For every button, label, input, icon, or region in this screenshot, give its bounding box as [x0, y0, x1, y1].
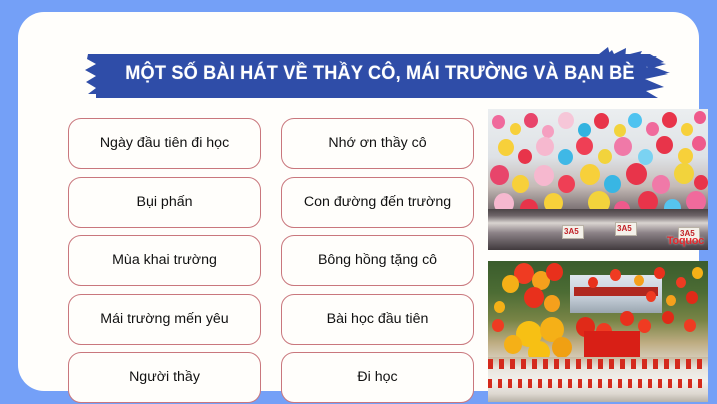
song-box[interactable]: Mái trường mến yêu: [68, 294, 261, 345]
song-box[interactable]: Bụi phấn: [68, 177, 261, 228]
song-box[interactable]: Ngày đầu tiên đi học: [68, 118, 261, 169]
photo-students-with-colorful-balloons: 3A5 3A5 3A5 Toquoc: [488, 109, 708, 250]
song-box[interactable]: Đi học: [281, 352, 474, 403]
song-box[interactable]: Người thầy: [68, 352, 261, 403]
photo-watermark: Toquoc: [667, 235, 704, 247]
red-hats-row: [488, 359, 708, 369]
song-box[interactable]: Bông hồng tặng cô: [281, 235, 474, 286]
photo-school-opening-ceremony-red-yellow-balloons: [488, 261, 708, 402]
song-box[interactable]: Bài học đầu tiên: [281, 294, 474, 345]
banner-title-text: MỘT SỐ BÀI HÁT VỀ THẦY CÔ, MÁI TRƯỜNG VÀ…: [95, 46, 664, 100]
red-hats-row: [488, 379, 708, 388]
class-placard-text: 3A5: [564, 228, 579, 236]
song-box[interactable]: Con đường đến trường: [281, 177, 474, 228]
content-panel: MỘT SỐ BÀI HÁT VỀ THẦY CÔ, MÁI TRƯỜNG VÀ…: [18, 12, 699, 391]
class-placard-text: 3A5: [617, 225, 632, 233]
red-flags: [584, 331, 640, 359]
song-list-grid: Ngày đầu tiên đi học Nhớ ơn thầy cô Bụi …: [68, 118, 474, 403]
title-banner: MỘT SỐ BÀI HÁT VỀ THẦY CÔ, MÁI TRƯỜNG VÀ…: [74, 46, 686, 100]
song-box[interactable]: Nhớ ơn thầy cô: [281, 118, 474, 169]
song-box[interactable]: Mùa khai trường: [68, 235, 261, 286]
slide-canvas: MỘT SỐ BÀI HÁT VỀ THẦY CÔ, MÁI TRƯỜNG VÀ…: [0, 0, 717, 404]
